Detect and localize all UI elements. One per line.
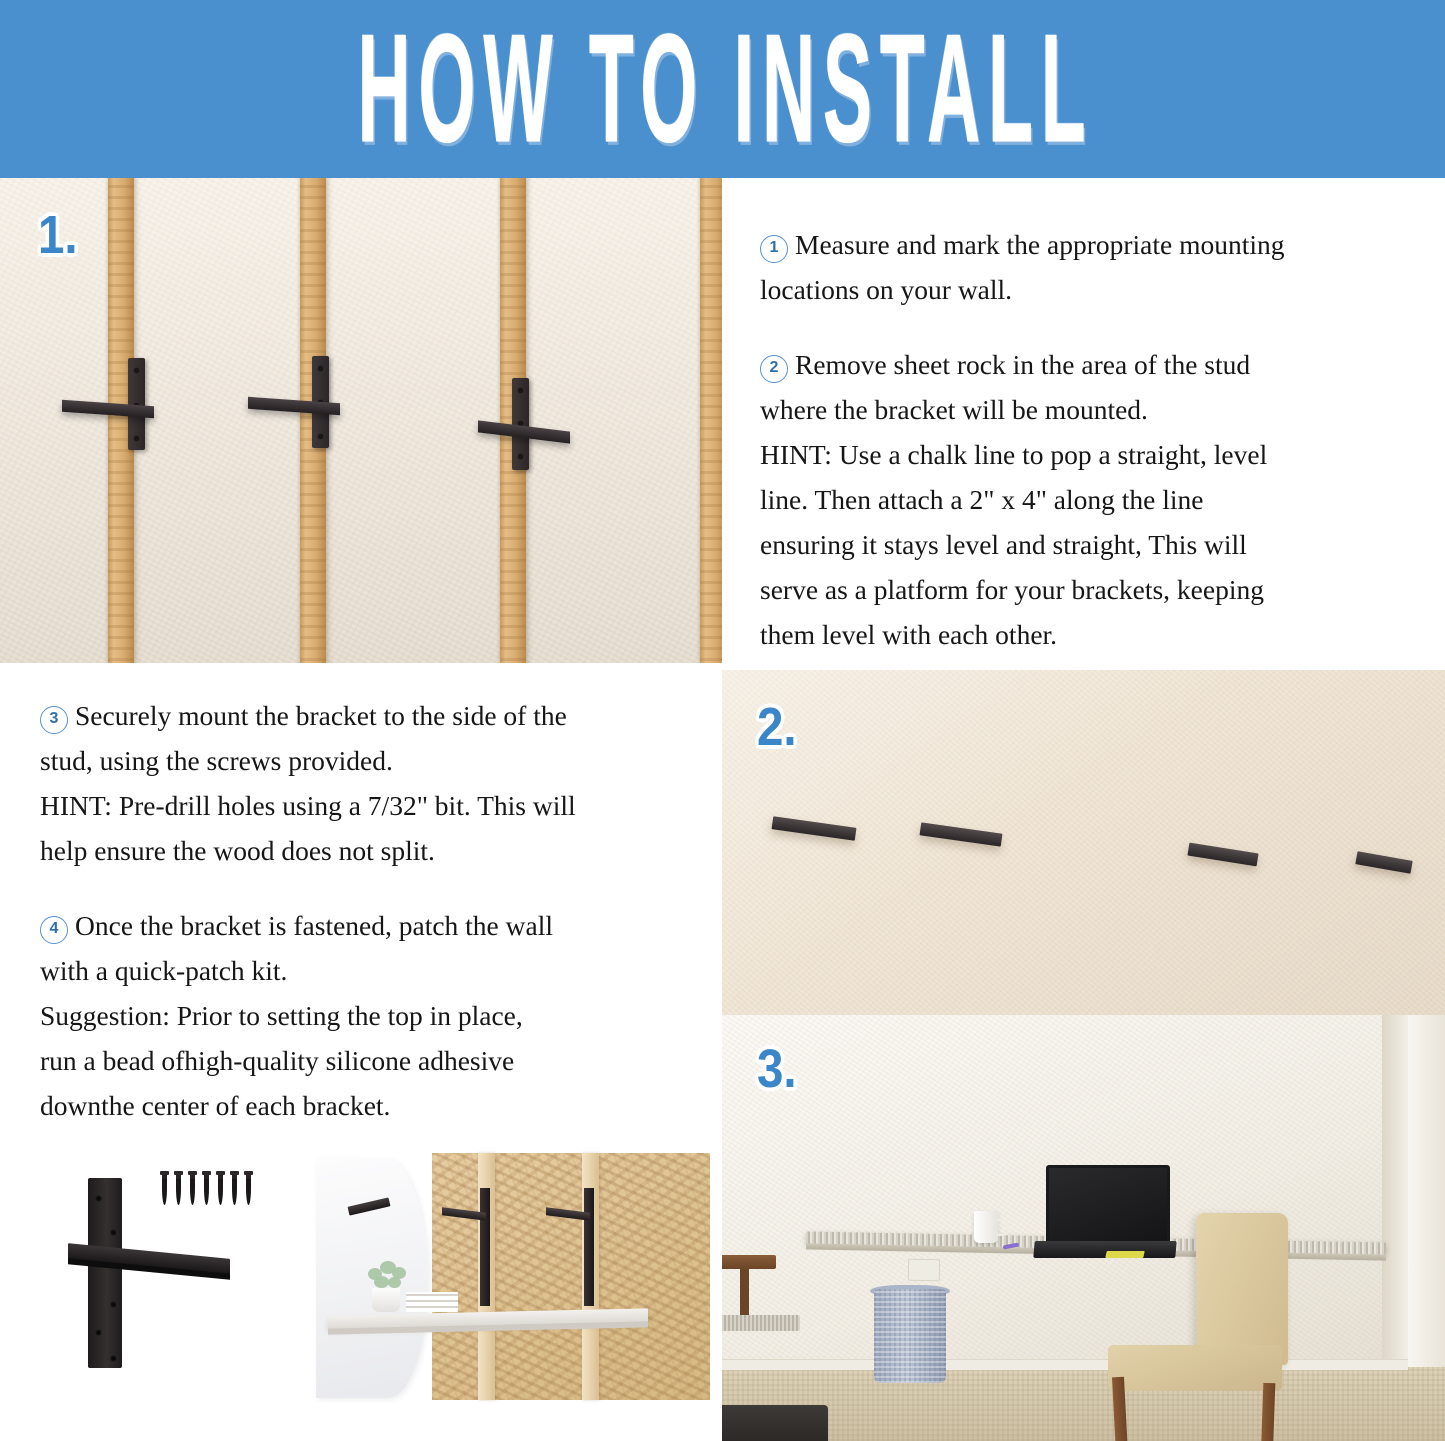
plant-pot: [372, 1288, 400, 1312]
screw-icon: [176, 1171, 181, 1205]
instruction-step-2: 2Remove sheet rock in the area of the st…: [760, 342, 1393, 657]
instructions-panel-right: 1Measure and mark the appropriate mounti…: [722, 178, 1445, 663]
sticky-note: [1105, 1251, 1144, 1258]
step4-hint-line1: Suggestion: Prior to setting the top in …: [40, 993, 686, 1038]
wall-corner: [1382, 1015, 1408, 1415]
screw-icon: [190, 1171, 195, 1205]
step4-hint-line3: downthe center of each bracket.: [40, 1083, 686, 1128]
diagram-bracket-plate: [480, 1188, 490, 1306]
bracket-hole-icon: [110, 1301, 117, 1308]
screw-icon: [218, 1171, 223, 1205]
step-number-circle-2: 2: [760, 355, 788, 383]
laptop-screen: [1046, 1165, 1170, 1247]
step1-line1: Measure and mark the appropriate mountin…: [795, 229, 1285, 260]
chair-backrest: [1196, 1213, 1288, 1365]
cutaway-diagram: [310, 1140, 710, 1440]
step3-hint-line2: help ensure the wood does not split.: [40, 828, 686, 873]
instruction-step-3: 3Securely mount the bracket to the side …: [40, 693, 686, 873]
carpet-floor: [722, 1367, 1445, 1441]
page-header: HOW TO INSTALL: [0, 0, 1445, 178]
screw-icon: [246, 1171, 251, 1205]
product-shot-bracket: [0, 1133, 330, 1433]
page-title: HOW TO INSTALL: [351, 12, 1093, 165]
step2-hint-line2: line. Then attach a 2" x 4" along the li…: [760, 477, 1393, 522]
instruction-step-1: 1Measure and mark the appropriate mounti…: [760, 222, 1393, 312]
step3-hint-line1: HINT: Pre-drill holes using a 7/32" bit.…: [40, 783, 686, 828]
side-table: [722, 1255, 776, 1269]
trash-can: [874, 1289, 946, 1383]
step-number-circle-3: 3: [40, 706, 68, 734]
step2-hint-line1: HINT: Use a chalk line to pop a straight…: [760, 432, 1393, 477]
granite-counter: [722, 1315, 800, 1331]
wood-stud: [700, 178, 722, 663]
step-badge-3: 3.: [757, 1042, 797, 1096]
step1-line2: locations on your wall.: [760, 267, 1393, 312]
instructions-text-right: 1Measure and mark the appropriate mounti…: [722, 178, 1445, 657]
mug-handle: [997, 1219, 1009, 1236]
stacked-books: [406, 1292, 458, 1312]
plant-leaf-icon: [388, 1277, 401, 1288]
dark-sofa: [722, 1405, 828, 1441]
step-badge-2: 2.: [757, 700, 797, 754]
screw-icon: [232, 1171, 237, 1205]
coffee-mug: [974, 1211, 998, 1243]
finished-room-scene: [722, 1015, 1445, 1441]
step-badge-1: 1.: [38, 208, 78, 262]
screw-head: [134, 436, 139, 441]
plant-leaf-icon: [374, 1276, 389, 1288]
bracket-hole-icon: [95, 1329, 102, 1336]
screw-head: [318, 366, 323, 371]
patched-wall-surface: [722, 670, 1445, 1015]
photo-step-1: [0, 178, 722, 663]
bracket-hole-icon: [95, 1195, 102, 1202]
chair-seat: [1108, 1345, 1282, 1391]
wall-outlet: [908, 1259, 940, 1282]
screw-head: [318, 434, 323, 439]
instructions-text-left: 3Securely mount the bracket to the side …: [0, 663, 722, 1128]
osb-sheathing: [432, 1153, 710, 1400]
screw-head: [518, 454, 523, 459]
step2-hint-line3: ensuring it stays level and straight, Th…: [760, 522, 1393, 567]
baseboard: [722, 1359, 1408, 1370]
step-number-circle-4: 4: [40, 916, 68, 944]
step2-line1: Remove sheet rock in the area of the stu…: [795, 349, 1250, 380]
step2-line2: where the bracket will be mounted.: [760, 387, 1393, 432]
step4-line1: Once the bracket is fastened, patch the …: [75, 910, 553, 941]
screw-head: [518, 388, 523, 393]
step4-hint-line2: run a bead ofhigh-quality silicone adhes…: [40, 1038, 686, 1083]
bracket-mounting-plate: [88, 1178, 122, 1368]
step-number-circle-1: 1: [760, 235, 788, 263]
instruction-step-4: 4Once the bracket is fastened, patch the…: [40, 903, 686, 1128]
screw-icon: [162, 1171, 167, 1205]
diagram-bracket-plate: [584, 1188, 594, 1306]
step3-line1: Securely mount the bracket to the side o…: [75, 700, 567, 731]
bracket-hole-icon: [110, 1355, 117, 1362]
screw-icon: [204, 1171, 209, 1205]
bracket-hole-icon: [110, 1229, 117, 1236]
step2-hint-line5: them level with each other.: [760, 612, 1393, 657]
step4-line2: with a quick-patch kit.: [40, 948, 686, 993]
step2-hint-line4: serve as a platform for your brackets, k…: [760, 567, 1393, 612]
step3-line2: stud, using the screws provided.: [40, 738, 686, 783]
chair-leg: [1261, 1383, 1276, 1441]
screw-head: [134, 368, 139, 373]
photo-step-3: [722, 1015, 1445, 1441]
photo-step-2: [722, 670, 1445, 1015]
